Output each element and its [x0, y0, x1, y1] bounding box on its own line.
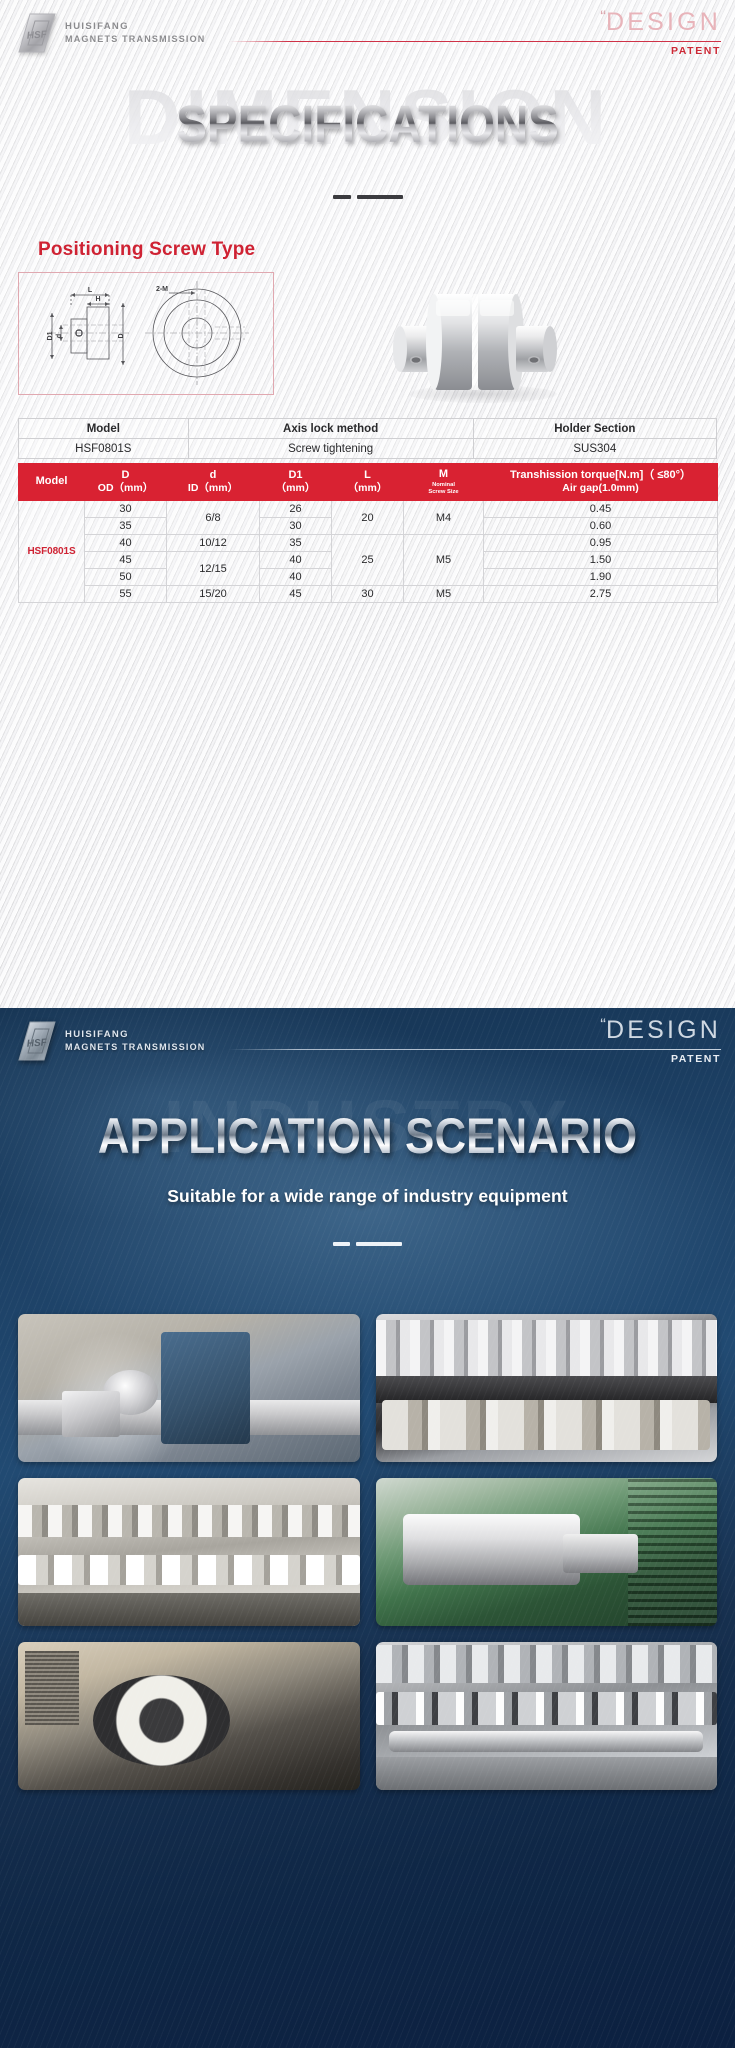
design-label: DESIGN — [606, 1016, 721, 1044]
col-inner-diameter: d ID（mm） — [167, 464, 260, 501]
application-gallery — [18, 1314, 717, 1790]
design-label-group: “DESIGN — [600, 8, 721, 37]
divider-dash-short — [333, 1242, 350, 1246]
cell-D: 30 — [85, 501, 167, 518]
gallery-item — [18, 1478, 360, 1626]
col-D1: D1 （mm） — [260, 464, 332, 501]
gallery-image-3 — [18, 1478, 360, 1626]
col-M-main: M — [439, 468, 448, 480]
cell-M: M5 — [404, 586, 484, 603]
cell-L: 30 — [332, 586, 404, 603]
product-photo — [378, 248, 588, 408]
product-spec-page: HSF HUISIFANG MAGNETS TRANSMISSION “DESI… — [0, 0, 735, 2048]
cell-D1: 45 — [260, 586, 332, 603]
col-screw-size: M NominalScrew Size — [404, 464, 484, 501]
drawing-label-D1: D1 — [47, 331, 54, 340]
divider-dash-long — [357, 195, 403, 199]
drawing-label-d: d — [56, 334, 63, 338]
brand-name-secondary: HUISIFANG MAGNETS TRANSMISSION — [65, 1028, 206, 1055]
divider-dash-short — [333, 195, 351, 199]
cell-torque: 1.50 — [484, 552, 718, 569]
section-title: APPLICATION SCENARIO — [0, 1112, 735, 1162]
gallery-item — [376, 1314, 718, 1462]
gallery-item — [18, 1314, 360, 1462]
gallery-item — [18, 1642, 360, 1790]
cell-D1: 35 — [260, 535, 332, 552]
drawing-label-2M: 2-M — [156, 286, 168, 293]
brand-name-line2: MAGNETS TRANSMISSION — [65, 1041, 206, 1054]
gallery-item — [376, 1478, 718, 1626]
col-outer-diameter: D OD（mm） — [85, 464, 167, 501]
cell-L: 25 — [332, 535, 404, 586]
page-title: SPECIFICATIONS — [0, 98, 735, 150]
technical-drawing-panel: L H D1 d D 2-M — [18, 272, 274, 395]
design-label-group: “DESIGN — [600, 1016, 721, 1045]
col-holder-section: Holder Section — [473, 419, 716, 439]
drawing-label-H: H — [95, 296, 100, 303]
page-header: HSF HUISIFANG MAGNETS TRANSMISSION “DESI… — [0, 0, 735, 64]
hsf-parallelogram-logo-icon: HSF — [18, 12, 56, 54]
col-L-sub: （mm） — [333, 482, 402, 495]
cell-M: M5 — [404, 535, 484, 586]
cell-d: 10/12 — [167, 535, 260, 552]
col-length: L （mm） — [332, 464, 404, 501]
cell-torque: 0.60 — [484, 518, 718, 535]
subtitle-divider — [0, 1242, 735, 1246]
table-row: HSF0801S Screw tightening SUS304 — [19, 439, 717, 459]
cell-D: 45 — [85, 552, 167, 569]
col-d-main: d — [210, 469, 217, 481]
section-subtitle: Suitable for a wide range of industry eq… — [0, 1186, 735, 1207]
cell-M: M4 — [404, 501, 484, 535]
page-header-secondary: HSF HUISIFANG MAGNETS TRANSMISSION “DESI… — [0, 1008, 735, 1072]
table-row: 55 15/20 45 30 M5 2.75 — [19, 586, 718, 603]
header-rule — [229, 41, 721, 42]
col-torque-sub: Air gap(1.0mm) — [485, 482, 716, 495]
cell-d: 15/20 — [167, 586, 260, 603]
application-scenario-section: HSF HUISIFANG MAGNETS TRANSMISSION “DESI… — [0, 1008, 735, 2048]
brand-name: HUISIFANG MAGNETS TRANSMISSION — [65, 20, 206, 47]
col-transmission-torque: Transhission torque[N.m]（ ≤80°） Air gap(… — [484, 464, 718, 501]
col-model: Model — [19, 419, 189, 439]
cell-D1: 40 — [260, 552, 332, 569]
col-D-sub: OD（mm） — [86, 482, 165, 495]
gallery-image-4 — [376, 1478, 718, 1626]
specifications-section: HSF HUISIFANG MAGNETS TRANSMISSION “DESI… — [0, 0, 735, 1008]
cell-model: HSF0801S — [19, 501, 85, 603]
dimensions-table: Model D OD（mm） d ID（mm） D1 （mm） — [18, 463, 718, 603]
col-D1-sub: （mm） — [261, 482, 330, 495]
svg-text:HSF: HSF — [26, 1037, 48, 1049]
cell-D: 55 — [85, 586, 167, 603]
gallery-image-6 — [376, 1642, 718, 1790]
overview-table: Model Axis lock method Holder Section HS… — [18, 418, 717, 459]
title-divider — [0, 195, 735, 199]
drawing-label-L: L — [88, 287, 93, 294]
hsf-parallelogram-logo-icon: HSF — [18, 1020, 56, 1062]
col-M-tiny: NominalScrew Size — [405, 482, 482, 496]
cell-L: 20 — [332, 501, 404, 535]
col-model: Model — [19, 464, 85, 501]
table-header-row: Model D OD（mm） d ID（mm） D1 （mm） — [19, 464, 718, 501]
cell-model: HSF0801S — [19, 439, 189, 459]
cell-D: 40 — [85, 535, 167, 552]
cell-axis-lock-method: Screw tightening — [188, 439, 473, 459]
cell-D: 50 — [85, 569, 167, 586]
cell-torque: 1.90 — [484, 569, 718, 586]
cell-d: 12/15 — [167, 552, 260, 586]
cell-torque: 0.95 — [484, 535, 718, 552]
table-row: HSF0801S 30 6/8 26 20 M4 0.45 — [19, 501, 718, 518]
col-axis-lock-method: Axis lock method — [188, 419, 473, 439]
brand-name-line1: HUISIFANG — [65, 1028, 206, 1042]
drawing-label-D: D — [118, 333, 125, 338]
cell-d: 6/8 — [167, 501, 260, 535]
table-header-row: Model Axis lock method Holder Section — [19, 419, 717, 439]
col-D-main: D — [122, 469, 130, 481]
col-D1-main: D1 — [288, 469, 302, 481]
divider-dash-long — [356, 1242, 402, 1246]
brand-name-line1: HUISIFANG — [65, 20, 206, 34]
brand-logo-secondary: HSF HUISIFANG MAGNETS TRANSMISSION — [18, 1020, 206, 1062]
cell-torque: 2.75 — [484, 586, 718, 603]
col-d-sub: ID（mm） — [168, 482, 258, 495]
design-label: DESIGN — [606, 8, 721, 36]
cell-D1: 40 — [260, 569, 332, 586]
dimensions-table-body: HSF0801S 30 6/8 26 20 M4 0.45 35 30 0.60… — [19, 501, 718, 603]
cell-D: 35 — [85, 518, 167, 535]
brand-logo: HSF HUISIFANG MAGNETS TRANSMISSION — [18, 12, 206, 54]
col-L-main: L — [364, 469, 371, 481]
subsection-heading: Positioning Screw Type — [38, 239, 255, 261]
gallery-image-5 — [18, 1642, 360, 1790]
table-row: 40 10/12 35 25 M5 0.95 — [19, 535, 718, 552]
gallery-image-2 — [376, 1314, 718, 1462]
header-rule — [229, 1049, 721, 1050]
gallery-image-1 — [18, 1314, 360, 1462]
cell-torque: 0.45 — [484, 501, 718, 518]
svg-text:HSF: HSF — [26, 29, 48, 41]
cell-holder-section: SUS304 — [473, 439, 716, 459]
brand-name-line2: MAGNETS TRANSMISSION — [65, 33, 206, 46]
col-torque-main: Transhission torque[N.m]（ ≤80°） — [510, 469, 691, 481]
gallery-item — [376, 1642, 718, 1790]
patent-label: PATENT — [671, 1053, 721, 1065]
cell-D1: 30 — [260, 518, 332, 535]
patent-label: PATENT — [671, 45, 721, 57]
col-model-main: Model — [36, 475, 68, 487]
cell-D1: 26 — [260, 501, 332, 518]
